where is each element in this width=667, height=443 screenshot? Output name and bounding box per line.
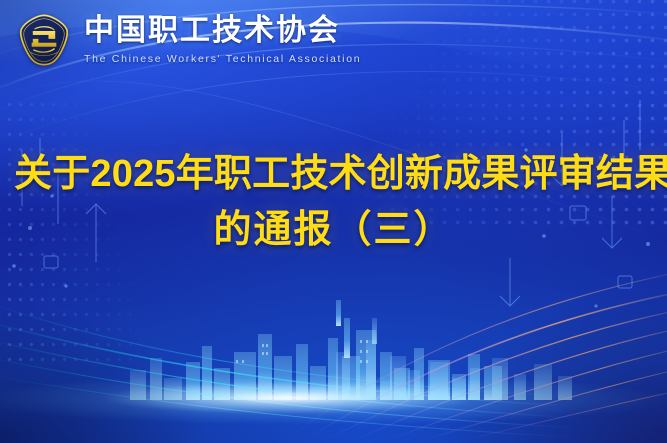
- notice-title-line-1: 关于2025年职工技术创新成果评审结果: [14, 146, 653, 202]
- association-header: 中国职工技术协会 The Chinese Workers' Technical …: [0, 0, 361, 80]
- organization-name-cn: 中国职工技术协会: [84, 15, 361, 46]
- notice-title: 关于2025年职工技术创新成果评审结果 的通报（三）: [0, 146, 667, 258]
- notice-title-line-2: 的通报（三）: [14, 202, 653, 258]
- organization-names: 中国职工技术协会 The Chinese Workers' Technical …: [84, 15, 361, 64]
- notice-banner: 中国职工技术协会 The Chinese Workers' Technical …: [0, 0, 667, 443]
- horizon-glow-icon: [0, 362, 667, 434]
- association-shield-emblem-icon: [16, 12, 72, 68]
- organization-name-en: The Chinese Workers' Technical Associati…: [84, 53, 361, 65]
